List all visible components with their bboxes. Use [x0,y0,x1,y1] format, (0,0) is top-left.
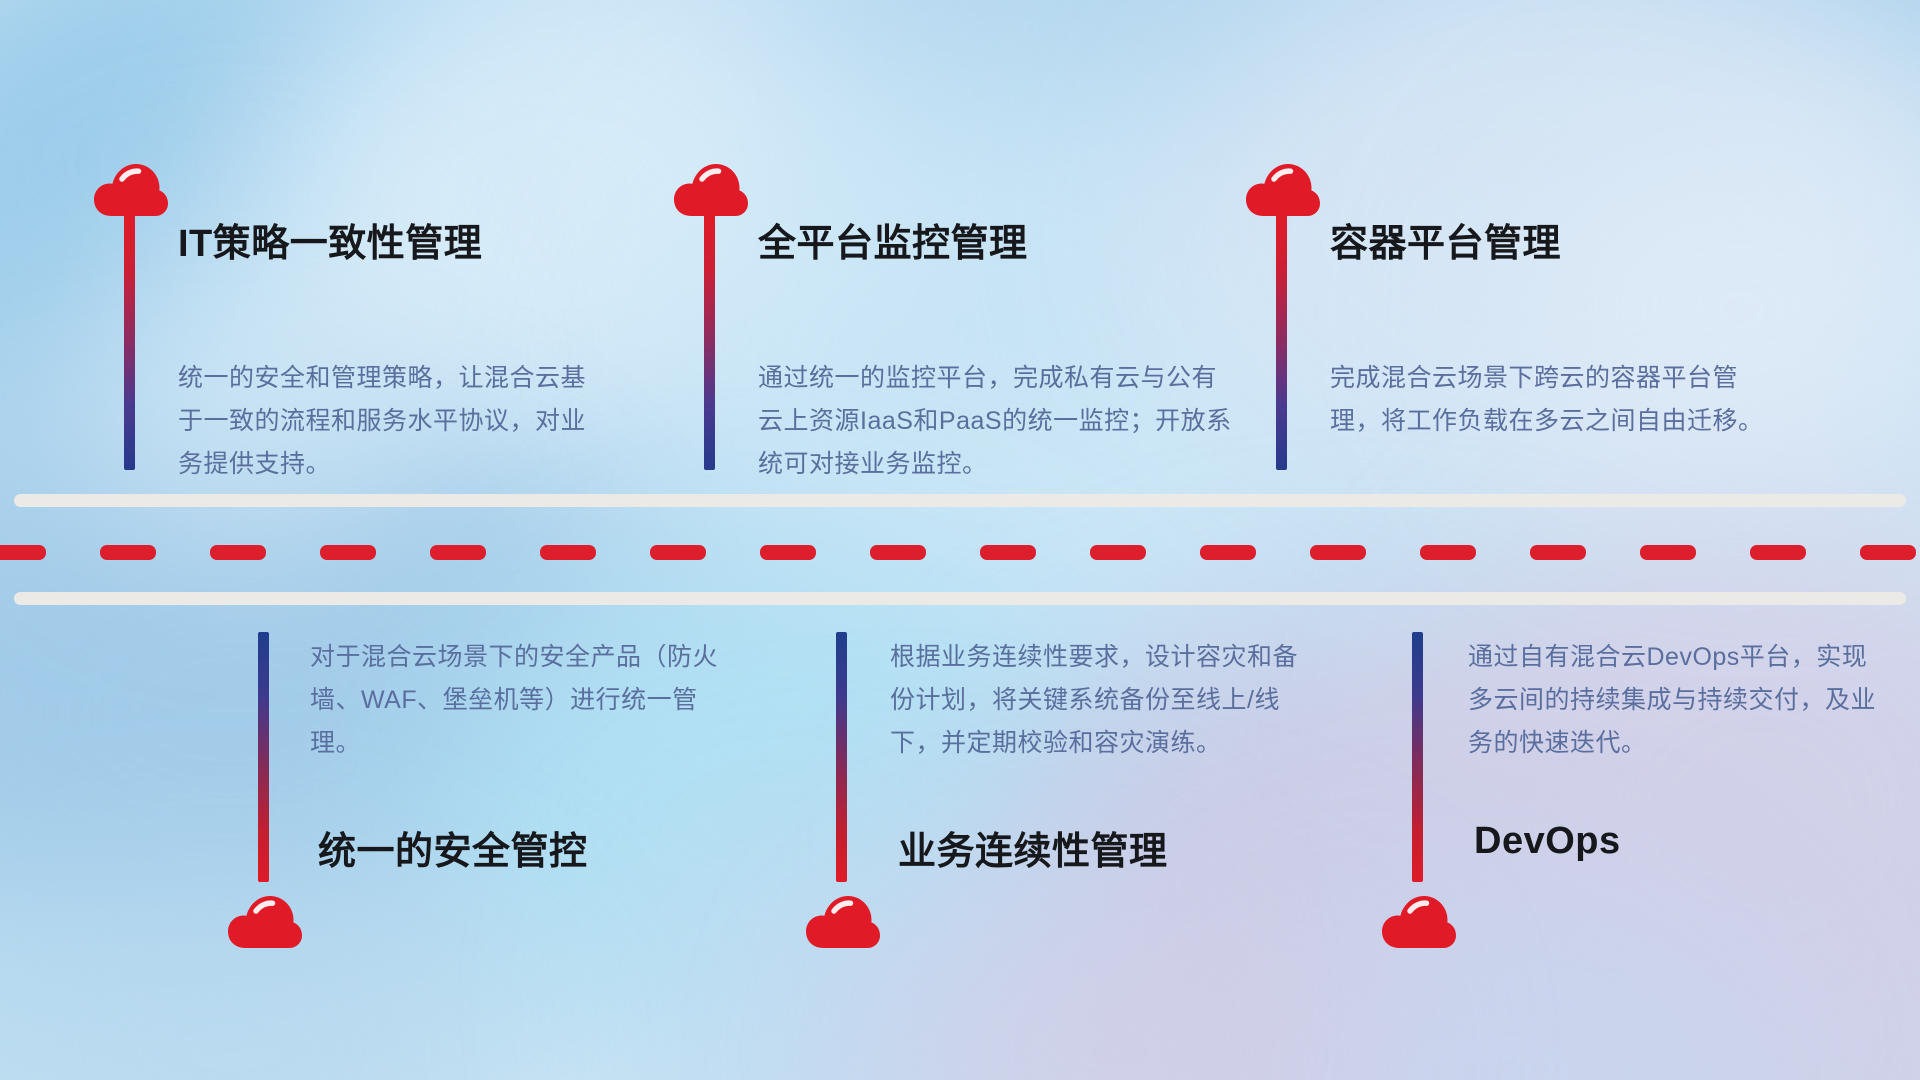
road-dash-segment [430,545,486,560]
timeline-stem [836,632,847,882]
road-dash-segment [1860,545,1916,560]
road-dash-segment [1640,545,1696,560]
road-dash-segment [1090,545,1146,560]
road-dash-segment [320,545,376,560]
road-dash-segment [760,545,816,560]
card-title: DevOps [1474,820,1621,863]
road-dash-segment [650,545,706,560]
road-center-dashes [0,545,1920,560]
timeline-stem [1276,215,1287,470]
road-dash-segment [0,545,46,560]
timeline-stem [704,215,715,470]
road-edge-line-top [14,494,1906,507]
road-dash-segment [1750,545,1806,560]
card-title: 全平台监控管理 [758,212,1028,267]
road-dash-segment [1530,545,1586,560]
road-edge-line-bottom [14,592,1906,605]
card-title: 业务连续性管理 [898,820,1168,875]
card-description: 根据业务连续性要求，设计容灾和备份计划，将关键系统备份至线上/线下，并定期校验和… [890,636,1320,765]
timeline-stem [124,215,135,470]
road-dash-segment [1420,545,1476,560]
road-dash-segment [980,545,1036,560]
card-description: 统一的安全和管理策略，让混合云基于一致的流程和服务水平协议，对业务提供支持。 [178,357,598,486]
road-dash-segment [100,545,156,560]
card-description: 对于混合云场景下的安全产品（防火墙、WAF、堡垒机等）进行统一管理。 [310,636,730,765]
card-description: 通过统一的监控平台，完成私有云与公有云上资源IaaS和PaaS的统一监控；开放系… [758,357,1238,486]
card-title: 容器平台管理 [1330,212,1561,267]
card-description: 通过自有混合云DevOps平台，实现多云间的持续集成与持续交付，及业务的快速迭代… [1468,636,1888,765]
card-description: 完成混合云场景下跨云的容器平台管理，将工作负载在多云之间自由迁移。 [1330,357,1770,443]
road-dash-segment [1200,545,1256,560]
card-title: IT策略一致性管理 [178,212,482,267]
timeline-stem [1412,632,1423,882]
road-dash-segment [210,545,266,560]
road-dash-segment [1310,545,1366,560]
road-dash-segment [540,545,596,560]
infographic-canvas: IT策略一致性管理 统一的安全和管理策略，让混合云基于一致的流程和服务水平协议，… [0,0,1920,1080]
timeline-stem [258,632,269,882]
road-dash-segment [870,545,926,560]
card-title: 统一的安全管控 [318,820,588,875]
